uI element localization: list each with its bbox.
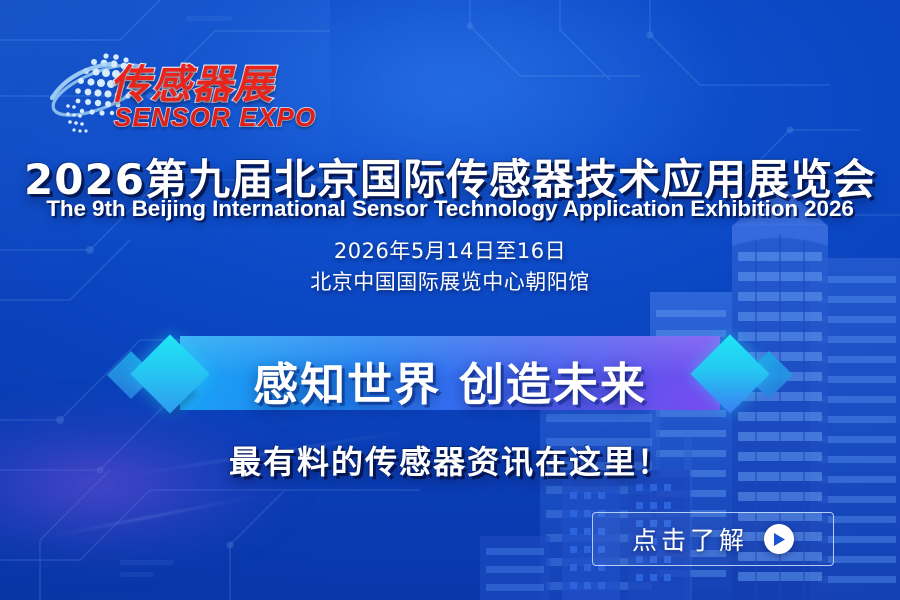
play-triangle-icon — [772, 532, 786, 547]
page-title-english: The 9th Beijing International Sensor Tec… — [0, 196, 900, 222]
learn-more-button[interactable]: 点击了解 — [592, 512, 834, 566]
slogan-text: 感知世界 创造未来 — [120, 348, 780, 413]
promo-banner: 传感器展 SENSOR EXPO 2026第九届北京国际传感器技术应用展览会 T… — [0, 0, 900, 600]
purple-glow — [0, 400, 300, 570]
event-venue: 北京中国国际展览中心朝阳馆 — [0, 267, 900, 298]
logo-english-name: SENSOR EXPO — [114, 102, 316, 133]
event-info: 2026年5月14日至16日 北京中国国际展览中心朝阳馆 — [0, 236, 900, 298]
slogan-ribbon: 感知世界 创造未来 — [120, 328, 780, 418]
tagline-text: 最有料的传感器资讯在这里！ — [0, 437, 900, 483]
event-logo: 传感器展 SENSOR EXPO — [48, 44, 288, 140]
event-date: 2026年5月14日至16日 — [0, 236, 900, 267]
play-circle-icon — [764, 524, 794, 554]
learn-more-label: 点击了解 — [632, 521, 748, 557]
light-streak — [42, 495, 258, 539]
